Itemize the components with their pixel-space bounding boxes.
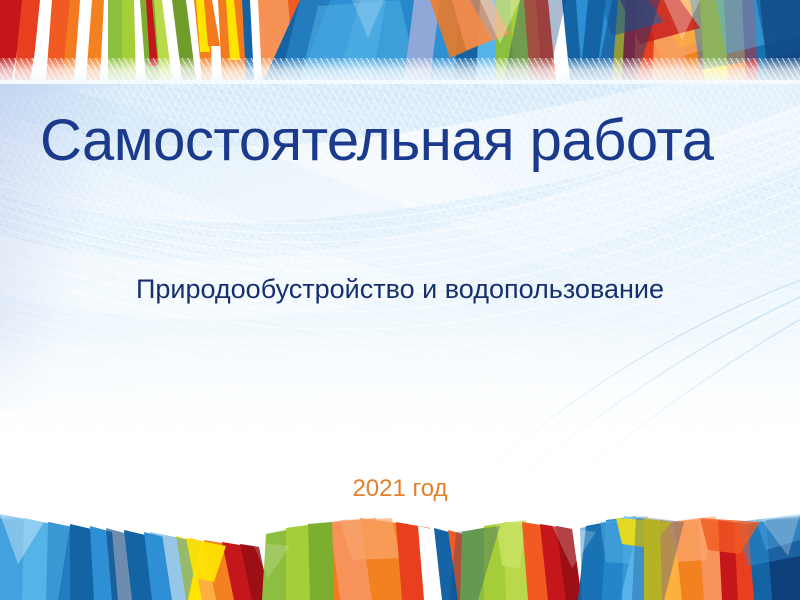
band-bottom-white-fade — [0, 508, 800, 520]
slide-year: 2021 год — [0, 476, 800, 502]
decorative-band-bottom — [0, 508, 800, 600]
presentation-slide: Самостоятельная работа Природообустройст… — [0, 0, 800, 600]
decorative-band-top — [0, 0, 800, 84]
slide-title: Самостоятельная работа — [40, 112, 770, 170]
slide-subtitle: Природообустройство и водопользование — [0, 275, 800, 305]
band-top-mesh-fade — [0, 58, 800, 84]
